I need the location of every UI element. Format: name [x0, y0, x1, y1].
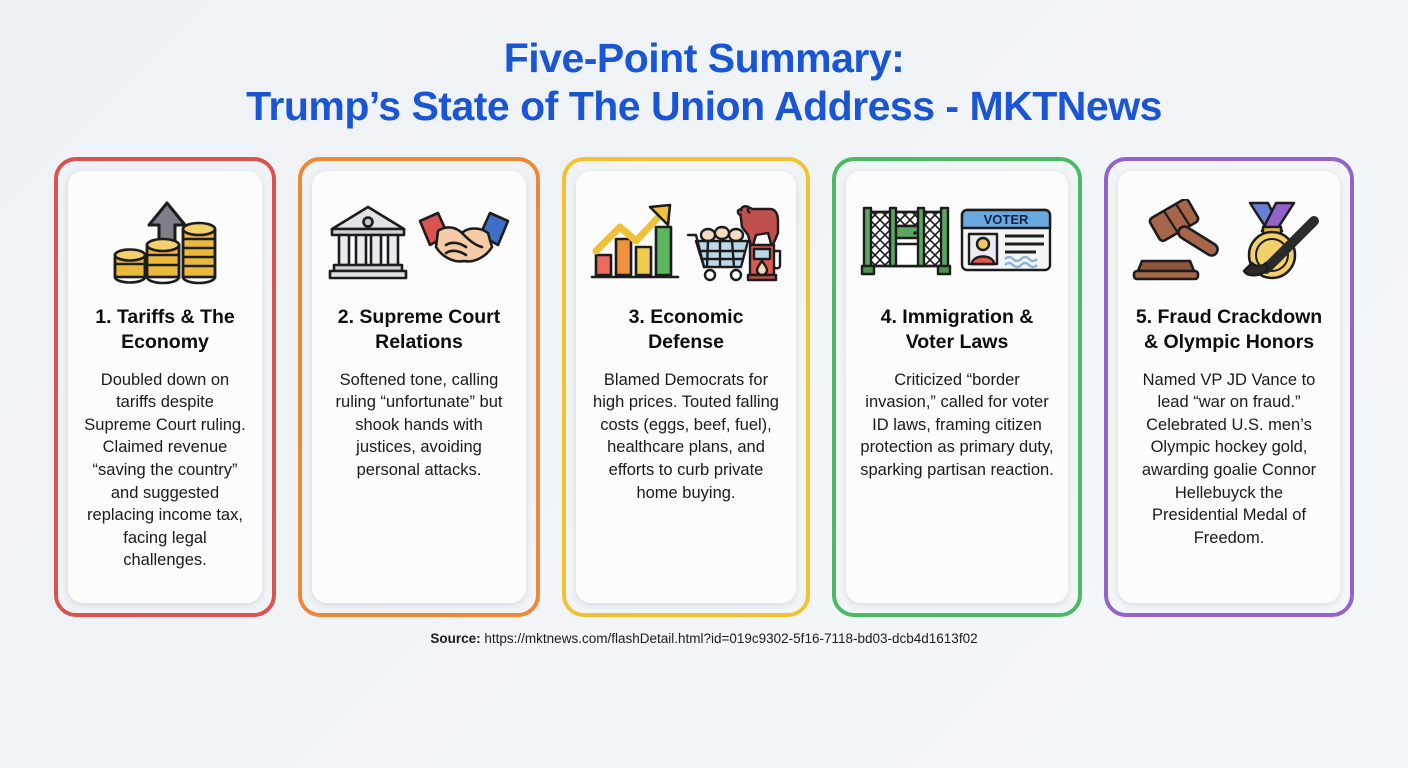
card-3-inner: 3. Economic Defense Blamed Democrats for…: [576, 171, 796, 603]
gavel-icon: [1132, 199, 1224, 283]
card-2-body: Softened tone, calling ruling “unfortuna…: [326, 369, 512, 482]
voter-id-card-icon: VOTER: [958, 202, 1054, 280]
summary-card-2[interactable]: 2. Supreme Court Relations Softened tone…: [298, 157, 540, 617]
bar-chart-arrow-icon: [590, 199, 680, 283]
card-2-title: 2. Supreme Court Relations: [326, 305, 512, 355]
card-2-inner: 2. Supreme Court Relations Softened tone…: [312, 171, 526, 603]
shopping-cart-icon: [688, 227, 748, 280]
title-line-1: Five-Point Summary:: [46, 34, 1362, 82]
fuel-pump-icon: [748, 245, 780, 280]
card-3-icons: [590, 191, 782, 291]
card-4-title: 4. Immigration & Voter Laws: [860, 305, 1054, 355]
card-5-inner: 5. Fraud Crackdown & Olympic Honors Name…: [1118, 171, 1340, 603]
card-1-body: Doubled down on tariffs despite Supreme …: [82, 369, 248, 572]
title-line-2: Trump’s State of The Union Address - MKT…: [46, 82, 1362, 130]
summary-card-3[interactable]: 3. Economic Defense Blamed Democrats for…: [562, 157, 810, 617]
page-title: Five-Point Summary: Trump’s State of The…: [46, 34, 1362, 131]
card-1-title: 1. Tariffs & The Economy: [82, 305, 248, 355]
summary-cards-row: 1. Tariffs & The Economy Doubled down on…: [46, 157, 1362, 617]
card-4-body: Criticized “border invasion,” called for…: [860, 369, 1054, 482]
summary-card-1[interactable]: 1. Tariffs & The Economy Doubled down on…: [54, 157, 276, 617]
courthouse-icon: [326, 201, 410, 281]
shopping-cart-eggs-icon: [686, 199, 782, 283]
handshake-icon: [416, 201, 512, 281]
card-5-body: Named VP JD Vance to lead “war on fraud.…: [1132, 369, 1326, 550]
card-5-icons: [1132, 191, 1326, 291]
gold-medal-icon: [1230, 199, 1326, 283]
border-fence-icon: [860, 200, 952, 282]
card-4-icons: VOTER: [860, 191, 1054, 291]
card-5-title: 5. Fraud Crackdown & Olympic Honors: [1132, 305, 1326, 355]
summary-card-5[interactable]: 5. Fraud Crackdown & Olympic Honors Name…: [1104, 157, 1354, 617]
source-footer: Source: https://mktnews.com/flashDetail.…: [46, 617, 1362, 646]
source-url[interactable]: https://mktnews.com/flashDetail.html?id=…: [484, 631, 977, 646]
card-2-icons: [326, 191, 512, 291]
infographic-page: Five-Point Summary: Trump’s State of The…: [0, 0, 1408, 768]
card-3-body: Blamed Democrats for high prices. Touted…: [590, 369, 782, 505]
coin-stacks-icon: [109, 193, 221, 289]
card-3-title: 3. Economic Defense: [590, 305, 782, 355]
source-label: Source:: [430, 631, 484, 646]
card-4-inner: VOTER 4. Immigration & Voter Laws: [846, 171, 1068, 603]
card-1-inner: 1. Tariffs & The Economy Doubled down on…: [68, 171, 262, 603]
summary-card-4[interactable]: VOTER 4. Immigration & Voter Laws: [832, 157, 1082, 617]
card-1-icons: [109, 191, 221, 291]
voter-id-label: VOTER: [984, 212, 1029, 227]
